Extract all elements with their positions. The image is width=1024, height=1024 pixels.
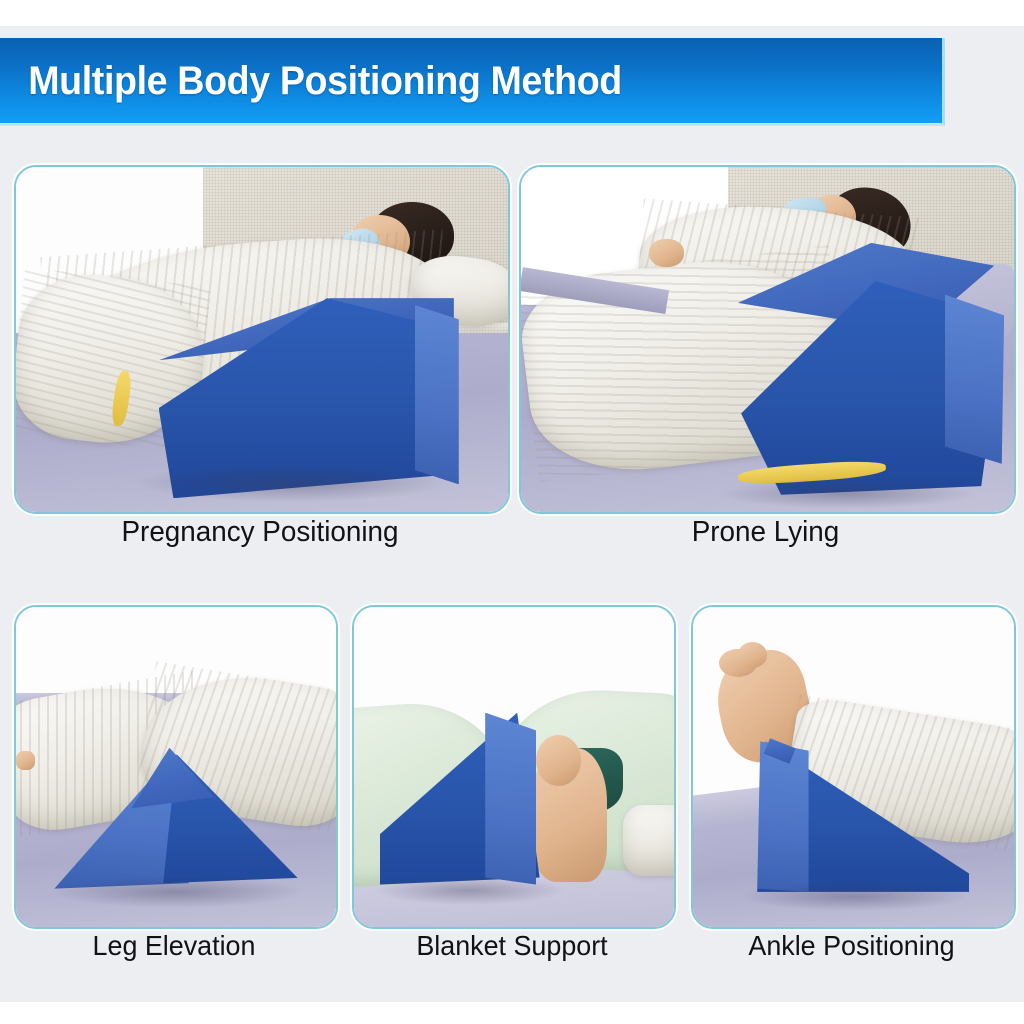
panel-row-top: [0, 165, 1024, 510]
panel-pregnancy-positioning[interactable]: [14, 165, 510, 514]
panel-blanket-support[interactable]: [352, 605, 676, 929]
panel-leg-elevation[interactable]: [14, 605, 338, 929]
panel-prone-lying[interactable]: [519, 165, 1016, 514]
person-side-lying-icon: [16, 167, 508, 512]
caption-prone-lying: Prone Lying: [529, 518, 1002, 547]
person-prone-icon: [521, 167, 1014, 512]
ankle-positioning-icon: [693, 607, 1014, 927]
caption-ankle-positioning: Ankle Positioning: [697, 932, 1005, 960]
caption-leg-elevation: Leg Elevation: [20, 932, 327, 960]
header-bar: Multiple Body Positioning Method: [0, 38, 945, 126]
panel-ankle-positioning[interactable]: [691, 605, 1016, 929]
panel-row-bottom: [0, 605, 1024, 925]
page-title: Multiple Body Positioning Method: [0, 61, 622, 101]
infographic-page: Multiple Body Positioning Method: [0, 0, 1024, 1024]
caption-pregnancy-positioning: Pregnancy Positioning: [24, 518, 496, 547]
caption-blanket-support: Blanket Support: [358, 932, 665, 960]
blanket-support-icon: [354, 607, 674, 927]
leg-elevation-icon: [16, 607, 336, 927]
